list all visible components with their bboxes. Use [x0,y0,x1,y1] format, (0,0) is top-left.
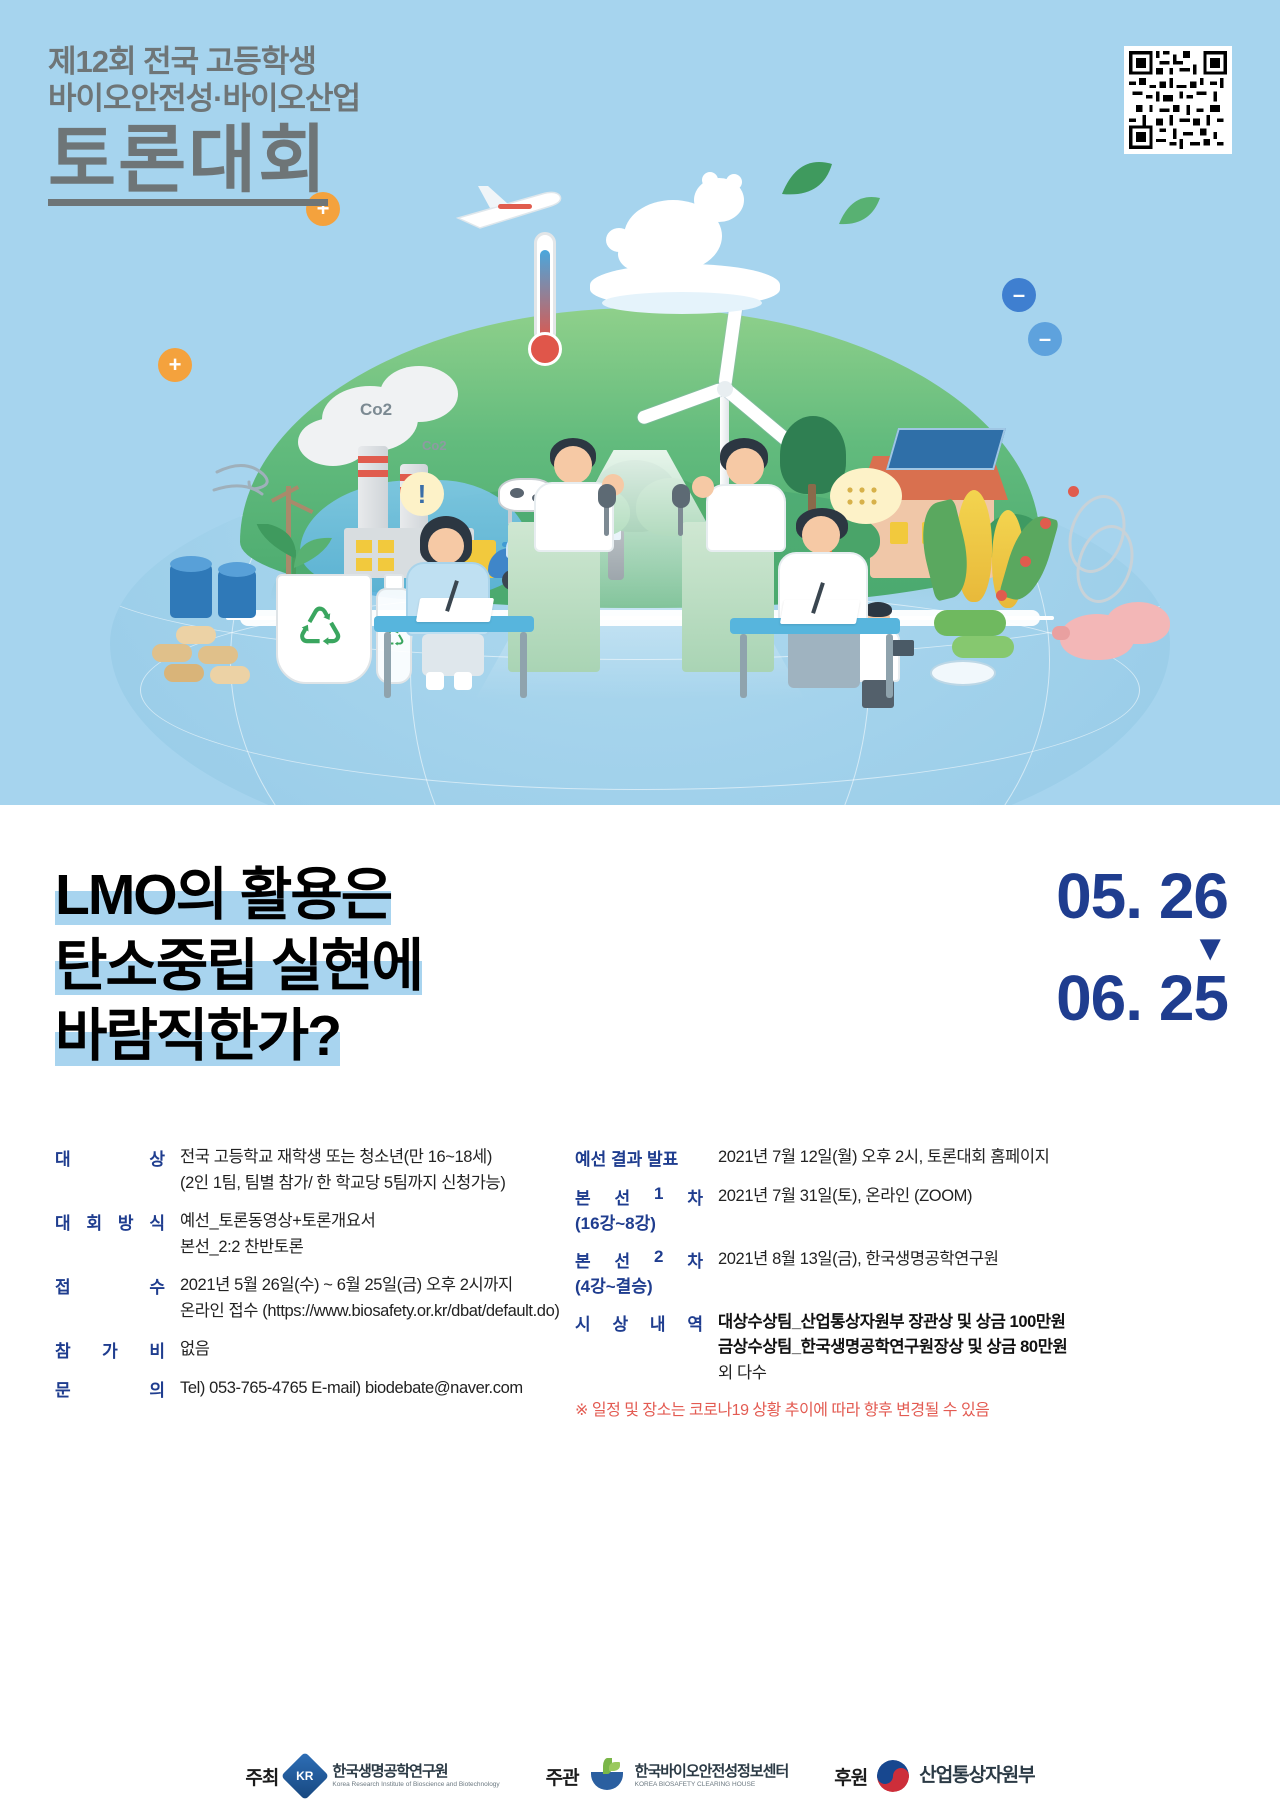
dna-node [1020,556,1031,567]
polar-bear-ear [726,174,742,190]
headline-row: 탄소중립 실현에 [55,936,422,998]
dna-node [996,590,1007,601]
leaf-icon [836,194,882,230]
desk-leg [520,632,527,698]
info-row-main-round-2: 본 선 2 차 (4강~결승) 2021년 8월 13일(금), 한국생명공학연… [575,1247,1235,1297]
recycle-bin [170,564,212,618]
footer-role-organizer: 주관 [546,1763,579,1790]
soybean-pod [952,636,1014,658]
info-value-prelim-result: 2021년 7월 12일(월) 오후 2시, 토론대회 홈페이지 [703,1145,1235,1171]
label-char: 선 [615,1184,631,1209]
label-char: 본 [575,1184,591,1209]
label-char: 2 [654,1247,663,1272]
headline-row: LMO의 활용은 [55,865,391,927]
leaf-icon [778,158,836,202]
info-label-main-round-1: 본 선 1 차 (16강~8강) [575,1184,703,1234]
value-line: 없음 [180,1337,575,1363]
earth-illustration: Co2 Co2 [110,150,1170,805]
footer-role-sponsor: 후원 [834,1763,867,1790]
info-value-target: 전국 고등학교 재학생 또는 청소년(만 16~18세) (2인 1팀, 팀별 … [165,1145,575,1196]
headline-block: LMO의 활용은 탄소중립 실현에 바람직한가? [55,865,422,1077]
recycle-symbol-icon: ♺ [296,596,344,659]
label-char: 문 [55,1376,71,1401]
label-char: 방 [118,1209,134,1234]
info-label-application: 접 수 [55,1273,165,1298]
info-column-left: 대 상 전국 고등학교 재학생 또는 청소년(만 16~18세) (2인 1팀,… [55,1145,575,1415]
poster-content: LMO의 활용은 탄소중립 실현에 바람직한가? 05. 26 ▼ 06. 25… [0,805,1280,1810]
footer-host: 주최 KR 한국생명공학연구원 Korea Research Institute… [245,1759,499,1793]
petri-dish [930,660,996,686]
info-label-contact: 문 의 [55,1376,165,1401]
poster-title-block: 제12회 전국 고등학생 바이오안전성·바이오산업 토론대회 [48,44,360,206]
info-value-main-round-1: 2021년 7월 31일(토), 온라인 (ZOOM) [703,1184,1235,1210]
wood-logs [152,626,272,682]
date-end: 06. 25 [1056,965,1228,1032]
info-sublabel-main-round-2: (4강~결승) [575,1272,703,1297]
co2-label: Co2 [422,438,447,453]
label-char: 대 [55,1209,71,1234]
info-row-format: 대 회 방 식 예선_토론동영상+토론개요서 본선_2:2 찬반토론 [55,1209,575,1260]
korea-government-taeguk-logo-icon [877,1760,909,1792]
contact-line[interactable]: Tel) 053-765-4765 E-mail) biodebate@nave… [180,1376,575,1402]
label-char: 대 [55,1145,71,1170]
label-char: 의 [149,1376,165,1401]
label-char: 본 [575,1247,591,1272]
award-others: 외 다수 [718,1361,1235,1387]
pig-snout [1052,626,1070,640]
polar-bear-group [590,172,790,322]
date-start: 05. 26 [1056,863,1228,930]
dna-node [1068,486,1079,497]
soybean-pod [934,610,1006,636]
footer-org-name-sponsor: 산업통상자원부 [919,1766,1034,1787]
minus-badge-icon: – [1002,278,1036,312]
qr-code-icon[interactable] [1124,46,1232,154]
wind-turbine-hub [717,381,733,397]
info-sublabel-main-round-1: (16강~8강) [575,1209,703,1234]
value-line: 2021년 5월 26일(수) ~ 6월 25일(금) 오후 2시까지 [180,1273,575,1299]
value-line: 본선_2:2 찬반토론 [180,1235,575,1261]
label-char: 역 [687,1310,703,1335]
label-char: 가 [102,1337,118,1362]
info-label-target: 대 상 [55,1145,165,1170]
info-label-main-round-2: 본 선 2 차 (4강~결승) [575,1247,703,1297]
airplane-icon [450,178,570,234]
headline-line-3: 바람직한가? [55,1006,340,1068]
info-value-application: 2021년 5월 26일(수) ~ 6월 25일(금) 오후 2시까지 온라인 … [165,1273,575,1324]
footer-org-name-host: 한국생명공학연구원 [332,1764,499,1781]
value-line: 2021년 7월 12일(월) 오후 2시, 토론대회 홈페이지 [718,1145,1235,1171]
value-line: 전국 고등학교 재학생 또는 청소년(만 16~18세) [180,1145,575,1171]
poster-hero: 제12회 전국 고등학생 바이오안전성·바이오산업 토론대회 [0,0,1280,805]
exclamation-bubble: ! [400,472,444,516]
footer-role-host: 주최 [245,1763,278,1790]
desk-paper [416,598,494,622]
info-label-fee: 참 가 비 [55,1337,165,1362]
footer-org-sub-host: Korea Research Institute of Bioscience a… [332,1781,499,1788]
info-row-main-round-1: 본 선 1 차 (16강~8강) 2021년 7월 31일(토), 온라인 (Z… [575,1184,1235,1234]
info-label-awards: 시 상 내 역 [575,1310,703,1335]
label-char: 상 [612,1310,628,1335]
raised-hand [692,476,714,498]
date-arrow-icon: ▼ [1056,932,1228,964]
headline-line-1: LMO의 활용은 [55,865,391,927]
application-url[interactable]: 온라인 접수 (https://www.biosafety.or.kr/dbat… [180,1299,575,1325]
microphone-head [598,484,616,508]
info-row-application: 접 수 2021년 5월 26일(수) ~ 6월 25일(금) 오후 2시까지 … [55,1273,575,1324]
desk-leg [740,634,747,698]
covid-notice: ※ 일정 및 장소는 코로나19 상황 추이에 따라 향후 변경될 수 있음 [575,1399,1235,1423]
label-char: 1 [654,1184,663,1209]
label-char: 비 [149,1337,165,1362]
polar-bear-cub-head [606,228,632,252]
desk-paper [780,600,860,624]
footer-organizer: 주관 한국바이오안전성정보센터 KOREA BIOSAFETY CLEARING… [546,1758,789,1794]
label-char: 회 [86,1209,102,1234]
co2-label: Co2 [360,400,392,420]
info-value-format: 예선_토론동영상+토론개요서 본선_2:2 찬반토론 [165,1209,575,1260]
footer-org-name-organizer: 한국바이오안전성정보센터 [635,1764,789,1781]
label-char: 상 [149,1145,165,1170]
label-char: 선 [615,1247,631,1272]
desk-leg [886,634,893,698]
footer-organizers: 주최 KR 한국생명공학연구원 Korea Research Institute… [0,1758,1280,1794]
kribb-diamond-logo-icon: KR [281,1752,329,1800]
award-grand: 대상수상팀_산업통상자원부 장관상 및 상금 100만원 [718,1310,1235,1336]
label-char: 시 [575,1310,591,1335]
label-char: 차 [687,1184,703,1209]
event-dates: 05. 26 ▼ 06. 25 [1056,863,1228,1032]
footer-sponsor: 후원 산업통상자원부 [834,1760,1034,1792]
info-row-awards: 시 상 내 역 대상수상팀_산업통상자원부 장관상 및 상금 100만원 금상수… [575,1310,1235,1387]
info-label-prelim-result: 예선 결과 발표 [575,1145,703,1170]
wind-swirl-icon [212,454,282,514]
label-char: 차 [687,1247,703,1272]
label-char: 접 [55,1273,71,1298]
info-value-contact: Tel) 053-765-4765 E-mail) biodebate@nave… [165,1376,575,1402]
info-row-contact: 문 의 Tel) 053-765-4765 E-mail) biodebate@… [55,1376,575,1402]
thermometer-icon [528,232,568,372]
biosafety-sprout-logo-icon [589,1758,625,1794]
info-value-main-round-2: 2021년 8월 13일(금), 한국생명공학연구원 [703,1247,1235,1273]
microphone-head [672,484,690,508]
info-value-fee: 없음 [165,1337,575,1363]
info-label-format: 대 회 방 식 [55,1209,165,1234]
info-row-prelim-result: 예선 결과 발표 2021년 7월 12일(월) 오후 2시, 토론대회 홈페이… [575,1145,1235,1171]
minus-badge-icon: – [1028,322,1062,356]
dna-node [1040,518,1051,529]
recycle-bin-lid [170,556,212,572]
value-line: 2021년 8월 13일(금), 한국생명공학연구원 [718,1247,1235,1273]
footer-org-sub-organizer: KOREA BIOSAFETY CLEARING HOUSE [635,1781,789,1788]
info-column-right: 예선 결과 발표 2021년 7월 12일(월) 오후 2시, 토론대회 홈페이… [575,1145,1235,1423]
label-char: 식 [149,1209,165,1234]
award-gold: 금상수상팀_한국생명공학연구원장상 및 상금 80만원 [718,1335,1235,1361]
title-main: 토론대회 [48,123,328,206]
info-value-awards: 대상수상팀_산업통상자원부 장관상 및 상금 100만원 금상수상팀_한국생명공… [703,1310,1235,1387]
value-line: 예선_토론동영상+토론개요서 [180,1209,575,1235]
label-char: 내 [650,1310,666,1335]
desk-leg [384,632,391,698]
value-line: 2021년 7월 31일(토), 온라인 (ZOOM) [718,1184,1235,1210]
pig-illustration [1106,602,1170,644]
info-row-target: 대 상 전국 고등학교 재학생 또는 청소년(만 16~18세) (2인 1팀,… [55,1145,575,1196]
plus-badge-icon: + [158,348,192,382]
title-line-2: 바이오안전성·바이오산업 [48,81,360,118]
label-char: 참 [55,1337,71,1362]
headline-line-2: 탄소중립 실현에 [55,936,422,998]
headline-row: 바람직한가? [55,1006,340,1068]
info-row-fee: 참 가 비 없음 [55,1337,575,1363]
solar-panel [886,428,1006,470]
label-char: 수 [149,1273,165,1298]
title-line-1: 제12회 전국 고등학생 [48,44,360,81]
polar-bear-ear [702,172,718,188]
value-line: (2인 1팀, 팀별 참가/ 한 학교당 5팀까지 신청가능) [180,1171,575,1197]
